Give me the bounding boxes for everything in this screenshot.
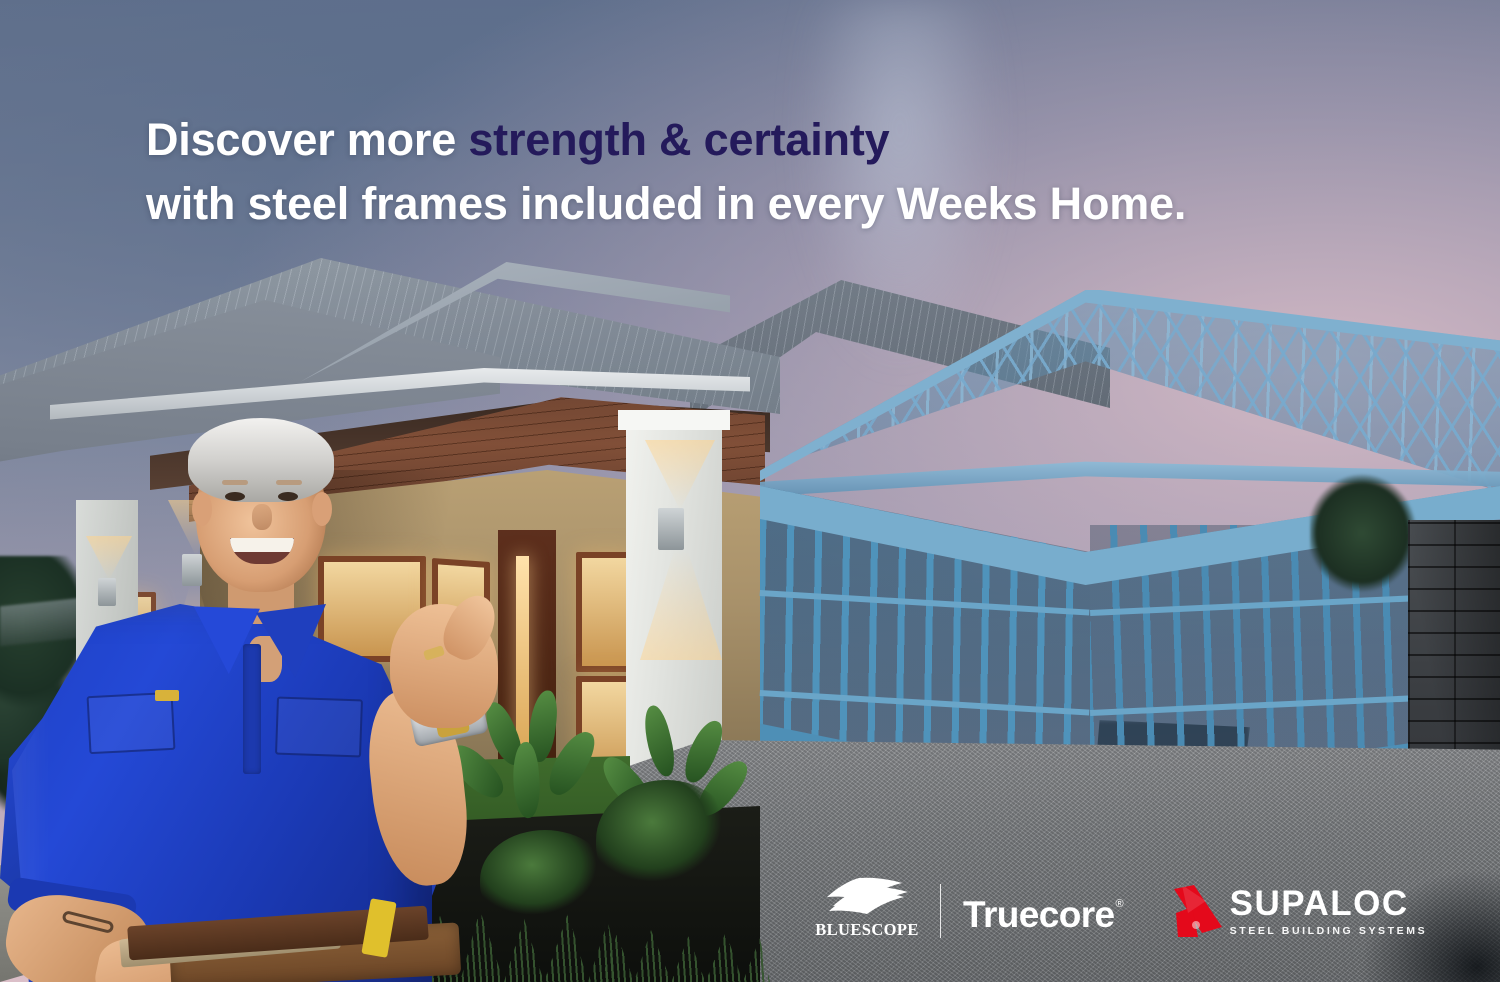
- truecore-logo: Truecore ®: [963, 890, 1124, 933]
- partner-logo-row: BLUESCOPE Truecore ® SUPALOC STEEL BUILD…: [808, 874, 1427, 948]
- person-nose: [252, 504, 272, 530]
- wall-light-fixture: [658, 508, 684, 550]
- truecore-registered-icon: ®: [1116, 898, 1124, 910]
- logo-divider: [940, 884, 941, 938]
- shirt-brand-tag: [155, 690, 179, 701]
- bluescope-wordmark: BLUESCOPE: [815, 920, 919, 940]
- headline-line1-accent: strength & certainty: [468, 114, 889, 165]
- shirt-placket: [243, 644, 261, 774]
- headline: Discover more strength & certainty with …: [146, 108, 1356, 236]
- supaloc-wordmark: SUPALOC: [1230, 886, 1428, 921]
- hero-banner: Discover more strength & certainty with …: [0, 0, 1500, 982]
- shirt-pocket: [87, 692, 176, 754]
- bluescope-logo: BLUESCOPE: [808, 875, 926, 947]
- headline-line1-plain: Discover more: [146, 114, 468, 165]
- headline-line2: with steel frames included in every Week…: [146, 172, 1356, 236]
- person-ear: [192, 492, 212, 526]
- garden-shrub: [596, 780, 736, 900]
- person-eyebrow: [276, 480, 302, 485]
- truecore-wordmark: Truecore: [963, 896, 1115, 933]
- supaloc-logo: SUPALOC STEEL BUILDING SYSTEMS: [1172, 883, 1428, 939]
- supaloc-text-block: SUPALOC STEEL BUILDING SYSTEMS: [1230, 886, 1428, 937]
- person-ear: [312, 492, 332, 526]
- person-eye: [225, 492, 245, 501]
- person-hair: [188, 418, 334, 502]
- person-eye: [278, 492, 298, 501]
- presenter-person: [0, 408, 500, 982]
- supaloc-tagline: STEEL BUILDING SYSTEMS: [1230, 925, 1428, 937]
- supaloc-red-slash-icon: [1172, 883, 1224, 939]
- shirt-pocket: [275, 697, 363, 758]
- bluescope-wave-diamond-icon: [818, 875, 916, 919]
- person-eyebrow: [222, 480, 248, 485]
